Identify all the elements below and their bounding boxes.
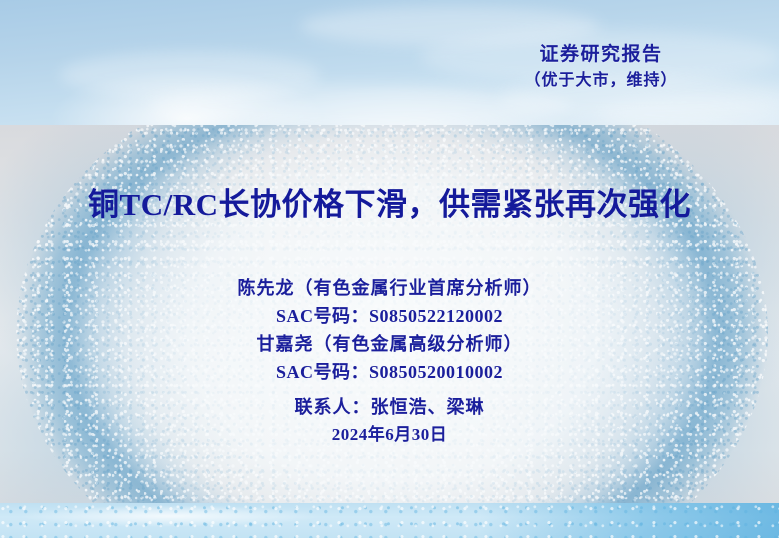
bottom-band-texture (0, 503, 779, 538)
investment-rating-label: （优于大市，维持） (441, 70, 761, 91)
author-name-secondary: 甘嘉尧（有色金属高级分析师） (0, 331, 779, 359)
report-header: 证券研究报告 （优于大市，维持） (441, 42, 761, 91)
author-sac-secondary: SAC号码：S0850520010002 (0, 359, 779, 387)
report-type-label: 证券研究报告 (441, 42, 761, 67)
author-sac-primary: SAC号码：S0850522120002 (0, 303, 779, 331)
report-date: 2024年6月30日 (0, 421, 779, 448)
report-cover-slide: 证券研究报告 （优于大市，维持） 铜TC/RC长协价格下滑，供需紧张再次强化 陈… (0, 0, 779, 538)
page-title: 铜TC/RC长协价格下滑，供需紧张再次强化 (0, 179, 779, 224)
bottom-decoration-band (0, 503, 779, 538)
cover-content: 铜TC/RC长协价格下滑，供需紧张再次强化 陈先龙（有色金属行业首席分析师） S… (0, 125, 779, 503)
author-block: 陈先龙（有色金属行业首席分析师） SAC号码：S0850522120002 甘嘉… (0, 275, 779, 449)
contacts-label: 联系人：张恒浩、梁琳 (0, 393, 779, 422)
author-name-primary: 陈先龙（有色金属行业首席分析师） (0, 275, 779, 303)
